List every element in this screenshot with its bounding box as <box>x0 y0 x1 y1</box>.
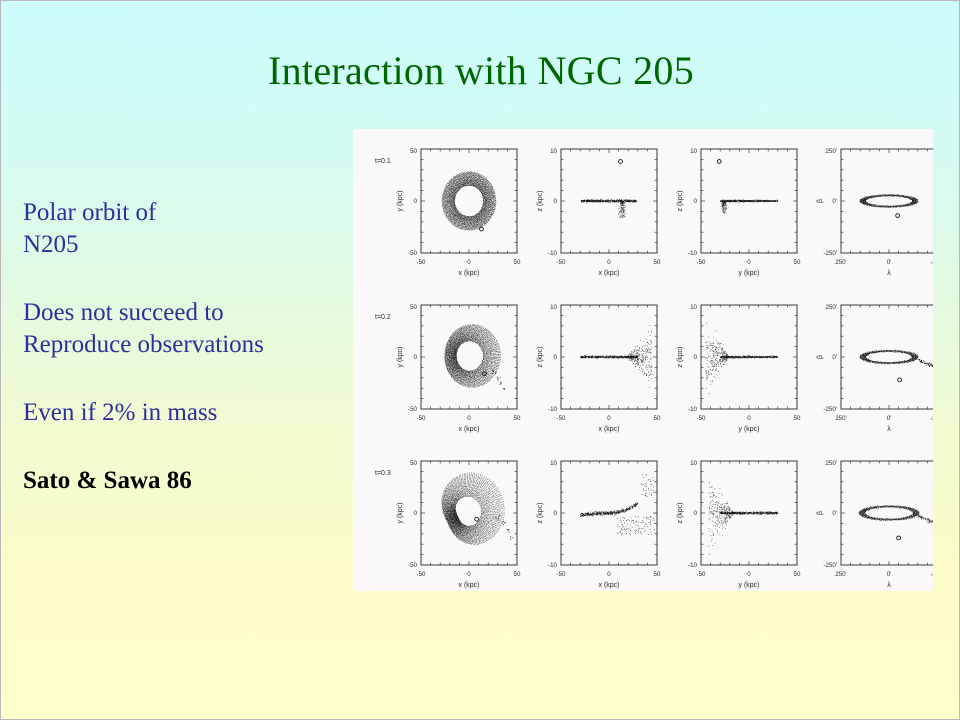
svg-text:-10: -10 <box>688 250 698 257</box>
bullet-two-percent-mass: Even if 2% in mass <box>23 397 353 429</box>
particle-cloud <box>441 473 513 545</box>
svg-text:t=0.1: t=0.1 <box>375 158 391 165</box>
plot-frame <box>421 149 517 253</box>
svg-text:-50: -50 <box>408 250 418 257</box>
plot-panel-xz-row1: -50050-10010x (kpc)z (kpc) <box>537 148 661 277</box>
svg-text:10: 10 <box>690 148 697 155</box>
svg-text:0: 0 <box>467 259 471 266</box>
particle-cloud <box>705 323 778 394</box>
simulation-figure-svg: -50050-50050x (kpc)y (kpc)t=0.1-50050-10… <box>353 129 933 591</box>
particle-cloud <box>859 350 933 368</box>
plot-frame <box>841 461 933 565</box>
slide-canvas: Interaction with NGC 205 Polar orbit of … <box>0 0 960 720</box>
companion-marker-icon <box>480 227 484 231</box>
plot-frame <box>421 461 517 565</box>
plot-panel-yz-row2: -50050-10010y (kpc)z (kpc) <box>677 304 801 433</box>
svg-text:50: 50 <box>410 148 417 155</box>
plot-panel-yz-row3: -50050-10010y (kpc)z (kpc) <box>677 460 801 589</box>
svg-text:0: 0 <box>747 259 751 266</box>
simulation-figure: -50050-50050x (kpc)y (kpc)t=0.1-50050-10… <box>353 129 933 591</box>
companion-marker-icon <box>482 372 486 376</box>
plot-frame <box>421 305 517 409</box>
plot-frame <box>841 149 933 253</box>
particle-cloud <box>580 474 655 535</box>
plot-panel-xy-row1: -50050-50050x (kpc)y (kpc)t=0.1 <box>375 148 521 277</box>
plot-panel-xz-row3: -50050-10010x (kpc)z (kpc) <box>537 460 661 589</box>
svg-text:50: 50 <box>514 259 521 266</box>
body-text-column: Polar orbit of N205 Does not succeed to … <box>23 197 353 497</box>
companion-marker-icon <box>896 214 900 218</box>
svg-text:10: 10 <box>550 148 557 155</box>
plot-frame <box>841 305 933 409</box>
plot-panel-sky-row2: 250'0'-250'-250'0'250'λβ <box>817 304 933 433</box>
companion-marker-icon <box>717 160 721 164</box>
plot-panel-sky-row3: 250'0'-250'-250'0'250'λβ <box>817 460 933 589</box>
svg-text:-50: -50 <box>417 259 427 266</box>
plot-panel-yz-row1: -50050-10010y (kpc)z (kpc) <box>677 148 801 277</box>
companion-marker-icon <box>475 517 479 521</box>
svg-text:-50: -50 <box>697 259 707 266</box>
particle-cloud <box>860 194 919 208</box>
svg-text:-50: -50 <box>557 259 567 266</box>
svg-text:y (kpc): y (kpc) <box>397 191 404 212</box>
particle-cloud <box>442 171 497 230</box>
particle-cloud <box>581 199 637 218</box>
particle-cloud <box>580 325 652 388</box>
svg-text:50: 50 <box>654 259 661 266</box>
svg-text:0: 0 <box>607 259 611 266</box>
svg-text:z (kpc): z (kpc) <box>677 191 684 212</box>
companion-marker-icon <box>897 536 901 540</box>
svg-text:x (kpc): x (kpc) <box>599 270 620 277</box>
companion-marker-icon <box>898 378 902 382</box>
bullet-does-not-succeed: Does not succeed to Reproduce observatio… <box>23 297 353 361</box>
plot-panel-xy-row3: -50050-50050x (kpc)y (kpc)t=0.3 <box>375 460 521 589</box>
plot-panel-xz-row2: -50050-10010x (kpc)z (kpc) <box>537 304 661 433</box>
page-title: Interaction with NGC 205 <box>1 49 960 93</box>
svg-text:50: 50 <box>794 259 801 266</box>
particle-cloud <box>720 199 778 213</box>
plot-panel-sky-row1: 250'0'-250'-250'0'250'λβ <box>817 148 933 277</box>
particle-cloud <box>708 482 778 555</box>
svg-text:0: 0 <box>694 198 698 205</box>
svg-text:z (kpc): z (kpc) <box>537 191 544 212</box>
plot-panel-xy-row2: -50050-50050x (kpc)y (kpc)t=0.2 <box>375 304 521 433</box>
svg-text:0: 0 <box>414 198 418 205</box>
companion-marker-icon <box>619 160 623 164</box>
svg-text:-10: -10 <box>548 250 558 257</box>
credit-reference: Sato & Sawa 86 <box>23 465 353 497</box>
svg-text:x (kpc): x (kpc) <box>459 270 480 277</box>
svg-text:y (kpc): y (kpc) <box>739 270 760 277</box>
svg-text:0: 0 <box>554 198 558 205</box>
particle-cloud <box>444 324 505 390</box>
bullet-polar-orbit: Polar orbit of N205 <box>23 197 353 261</box>
particle-cloud <box>858 505 933 523</box>
